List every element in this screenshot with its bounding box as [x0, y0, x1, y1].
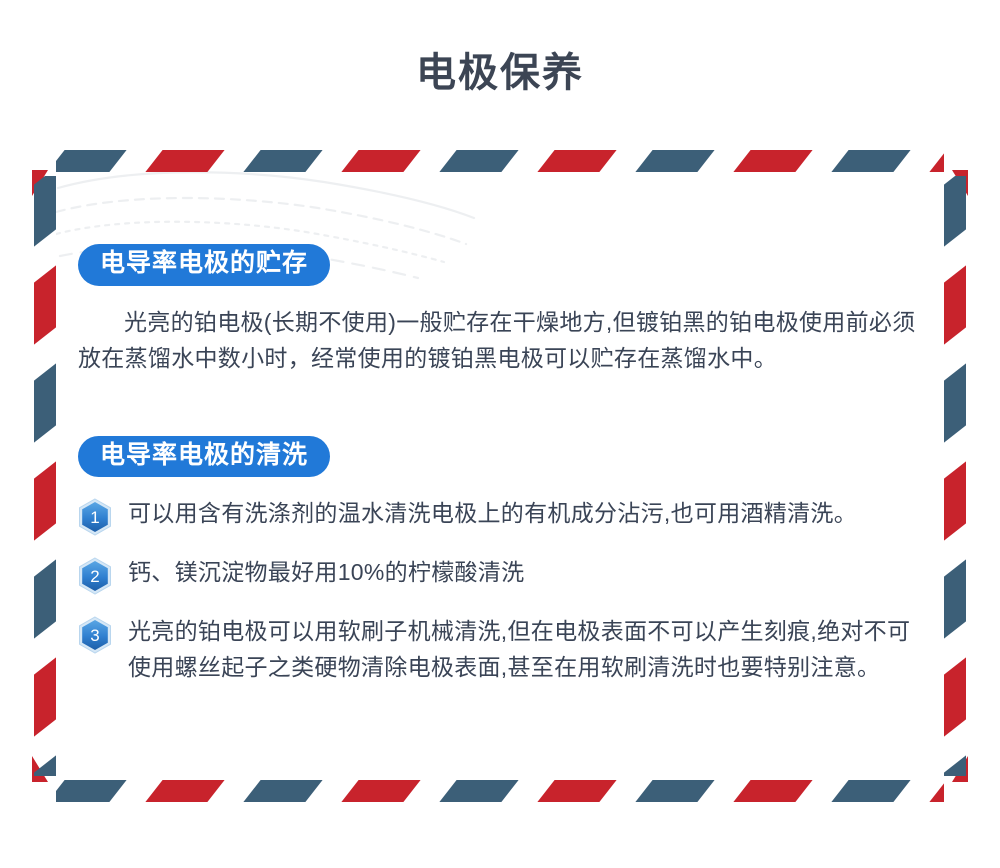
svg-text:2: 2: [90, 567, 99, 586]
border-stripe-dash: [56, 780, 127, 802]
svg-text:3: 3: [90, 626, 99, 645]
border-stripes-top: [56, 150, 944, 172]
list-item-text: 光亮的铂电极可以用软刷子机械清洗,但在电极表面不可以产生刻痕,绝对不可使用螺丝起…: [128, 613, 922, 685]
border-stripe-dash: [944, 176, 966, 247]
border-stripe-dash: [635, 150, 714, 172]
list-item: 2 钙、镁沉淀物最好用10%的柠檬酸清洗: [78, 554, 922, 595]
border-stripe-dash: [243, 780, 322, 802]
cleaning-steps-list: 1 可以用含有洗涤剂的温水清洗电极上的有机成分沾污,也可用酒精清洗。 2 钙、镁…: [78, 495, 922, 685]
envelope-content: 电导率电极的贮存 光亮的铂电极(长期不使用)一般贮存在干燥地方,但镀铂黑的铂电极…: [78, 186, 922, 766]
storage-paragraph: 光亮的铂电极(长期不使用)一般贮存在干燥地方,但镀铂黑的铂电极使用前必须放在蒸馏…: [78, 304, 922, 376]
border-stripe-dash: [944, 657, 966, 736]
svg-text:1: 1: [90, 508, 99, 527]
border-stripe-dash: [34, 363, 56, 442]
border-stripe-dash: [831, 150, 910, 172]
border-stripe-dash: [733, 780, 812, 802]
border-stripe-dash: [944, 461, 966, 540]
list-item: 1 可以用含有洗涤剂的温水清洗电极上的有机成分沾污,也可用酒精清洗。: [78, 495, 922, 536]
hexagon-number-badge-icon: 2: [78, 557, 112, 595]
border-stripes-right: [944, 176, 966, 776]
border-stripe-dash: [944, 755, 966, 776]
border-stripe-dash: [34, 657, 56, 736]
hexagon-number-badge-icon: 3: [78, 616, 112, 654]
border-stripes-left: [34, 176, 56, 776]
envelope-frame: 电导率电极的贮存 光亮的铂电极(长期不使用)一般贮存在干燥地方,但镀铂黑的铂电极…: [30, 146, 970, 806]
border-stripe-dash: [733, 150, 812, 172]
border-stripe-dash: [537, 780, 616, 802]
border-stripe-dash: [537, 150, 616, 172]
border-stripe-dash: [439, 150, 518, 172]
border-stripe-dash: [34, 559, 56, 638]
border-stripe-dash: [34, 461, 56, 540]
border-stripe-dash: [929, 780, 944, 802]
border-stripe-dash: [145, 150, 224, 172]
list-item-text: 可以用含有洗涤剂的温水清洗电极上的有机成分沾污,也可用酒精清洗。: [128, 495, 922, 531]
border-stripe-dash: [439, 780, 518, 802]
border-stripe-dash: [341, 150, 420, 172]
page-title: 电极保养: [0, 0, 1000, 93]
section-heading-cleaning: 电导率电极的清洗: [78, 436, 330, 478]
border-stripe-dash: [944, 559, 966, 638]
border-stripe-dash: [145, 780, 224, 802]
border-stripe-dash: [944, 363, 966, 442]
border-stripe-dash: [929, 150, 944, 172]
section-cleaning: 电导率电极的清洗: [78, 376, 922, 686]
border-stripe-dash: [34, 176, 56, 247]
border-stripe-dash: [56, 150, 127, 172]
section-storage: 电导率电极的贮存 光亮的铂电极(长期不使用)一般贮存在干燥地方,但镀铂黑的铂电极…: [78, 186, 922, 376]
border-stripe-dash: [635, 780, 714, 802]
border-stripe-dash: [944, 265, 966, 344]
border-stripe-dash: [831, 780, 910, 802]
border-stripe-dash: [243, 150, 322, 172]
list-item-text: 钙、镁沉淀物最好用10%的柠檬酸清洗: [128, 554, 922, 590]
border-stripe-dash: [34, 755, 56, 776]
border-stripe-dash: [34, 265, 56, 344]
border-stripes-bottom: [56, 780, 944, 802]
list-item: 3 光亮的铂电极可以用软刷子机械清洗,但在电极表面不可以产生刻痕,绝对不可使用螺…: [78, 613, 922, 685]
hexagon-number-badge-icon: 1: [78, 498, 112, 536]
section-heading-storage: 电导率电极的贮存: [78, 244, 330, 286]
border-stripe-dash: [341, 780, 420, 802]
